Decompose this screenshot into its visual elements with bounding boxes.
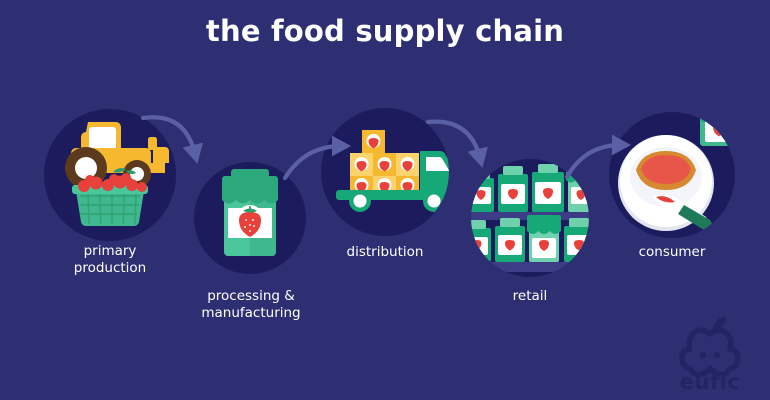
apple-eyes-icon <box>700 352 721 359</box>
stage-label-retail: retail <box>460 288 600 305</box>
infographic-poster: the food supply chain <box>0 0 770 400</box>
stage-label-distribution: distribution <box>315 244 455 261</box>
stage-circle-distribution[interactable] <box>321 108 457 236</box>
stage-label-processing-manufacturing: processing & manufacturing <box>180 288 322 322</box>
apple-face-logo-icon <box>682 330 738 375</box>
stage-circle-consumer[interactable] <box>609 101 738 238</box>
supply-chain-illustration <box>0 0 770 400</box>
jam-jar-icon <box>222 169 278 256</box>
stage-label-primary-production: primary production <box>40 243 180 277</box>
stage-circle-retail[interactable] <box>463 159 596 277</box>
eufic-wordmark: eufic <box>670 370 750 394</box>
stage-circle-processing-manufacturing[interactable] <box>194 162 306 274</box>
stage-circle-primary-production[interactable] <box>44 109 176 241</box>
stage-label-consumer: consumer <box>602 244 742 261</box>
